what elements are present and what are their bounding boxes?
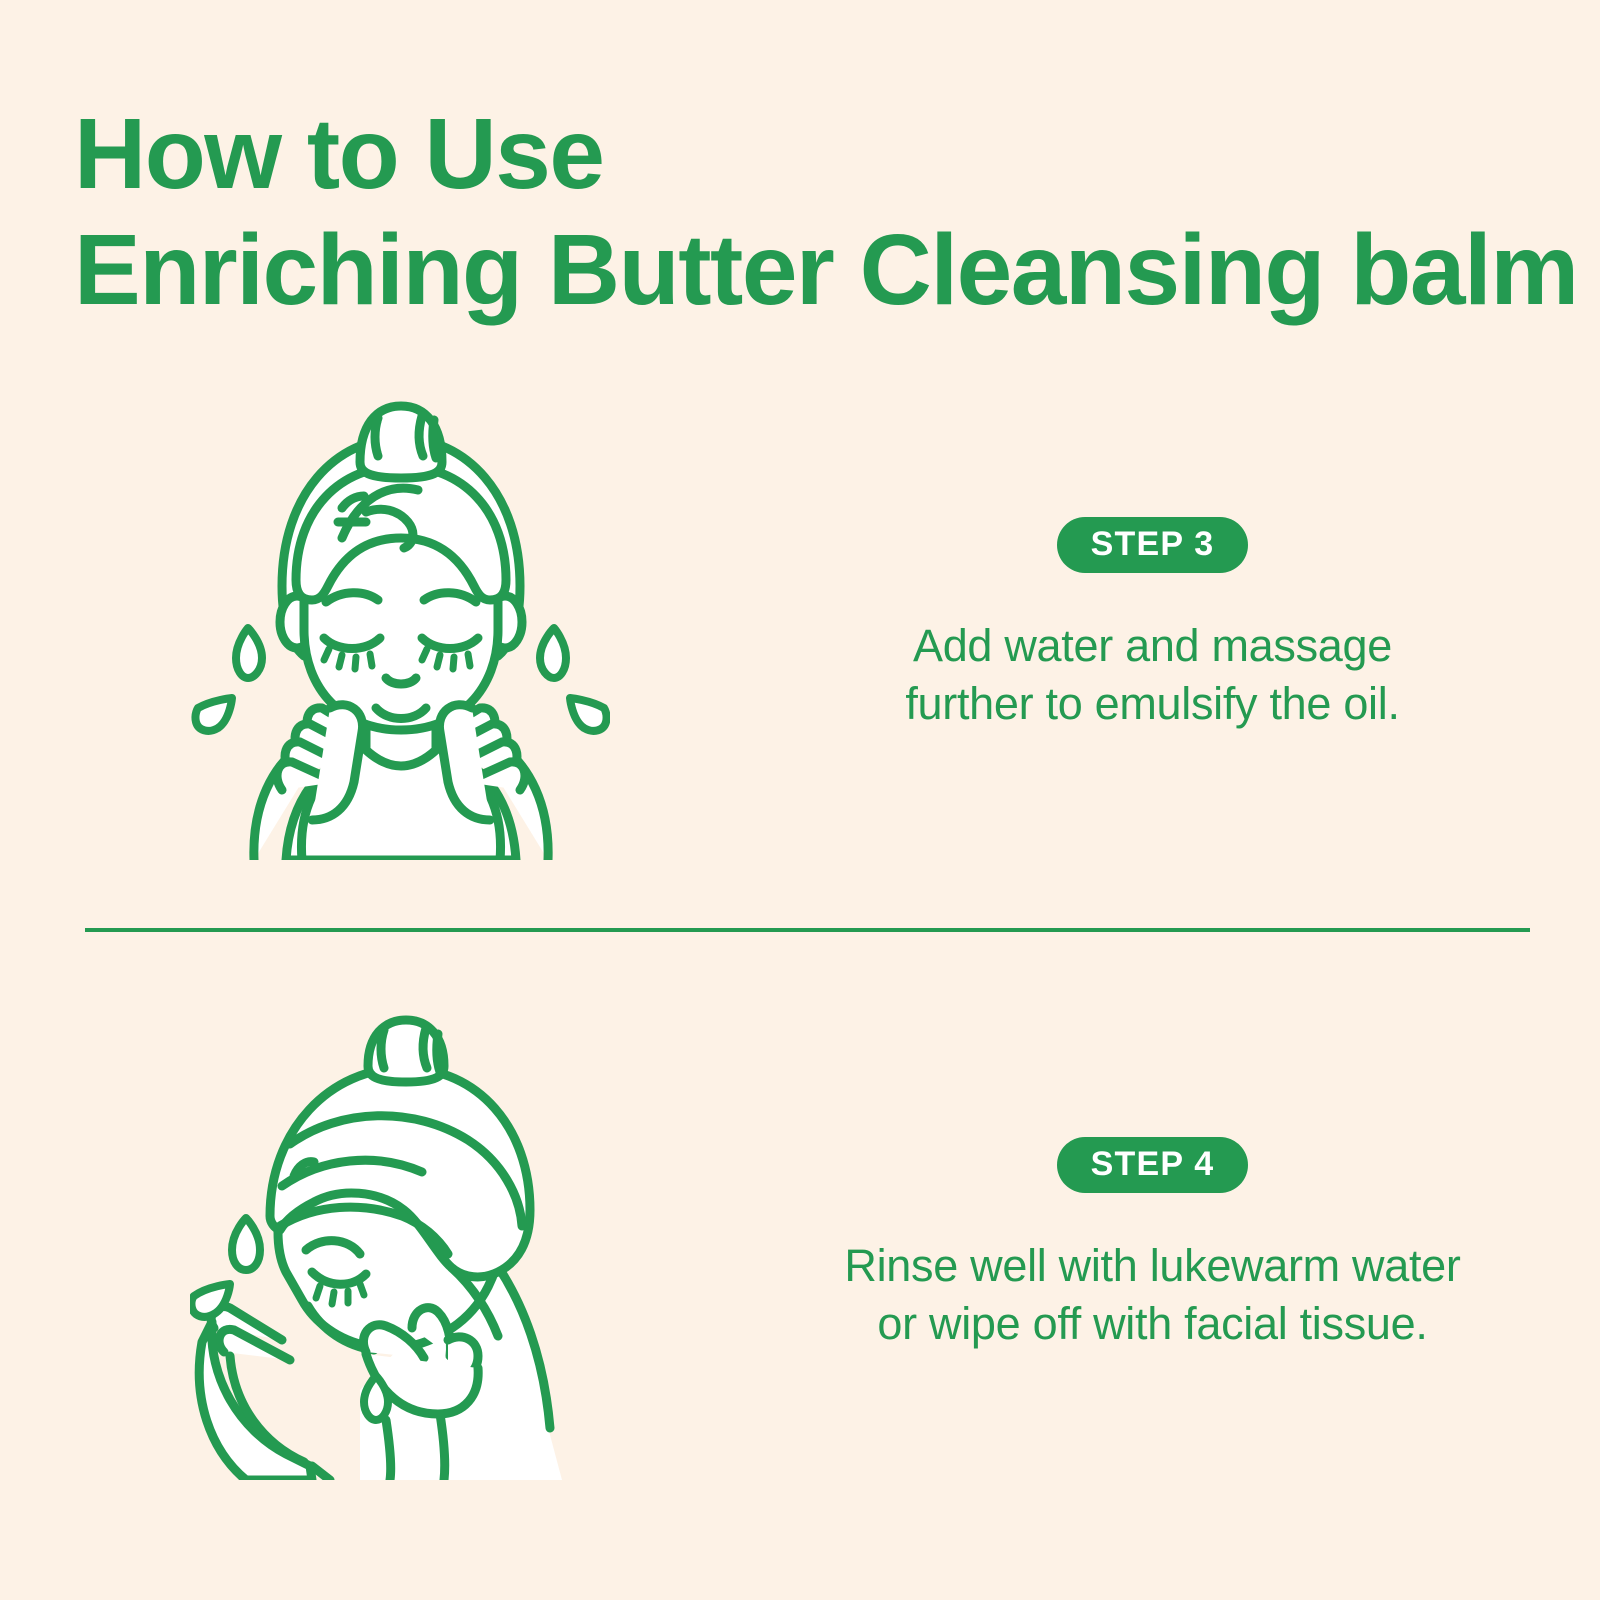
step-4-badge: STEP 4: [1057, 1137, 1249, 1193]
step-row-4: STEP 4 Rinse well with lukewarm water or…: [0, 980, 1600, 1510]
step-3-illustration-cell: [0, 390, 800, 860]
step-row-3: STEP 3 Add water and massage further to …: [0, 370, 1600, 880]
step-4-illustration-cell: [0, 1010, 800, 1480]
page-title: How to Use Enriching Butter Cleansing ba…: [74, 96, 1534, 328]
section-divider: [85, 928, 1530, 932]
infographic-page: How to Use Enriching Butter Cleansing ba…: [0, 0, 1600, 1600]
woman-rinsing-face-icon: [190, 1010, 610, 1480]
title-line-2: Enriching Butter Cleansing balm: [74, 212, 1534, 328]
title-line-1: How to Use: [74, 96, 1534, 212]
step-4-text-cell: STEP 4 Rinse well with lukewarm water or…: [800, 1137, 1600, 1353]
step-4-description: Rinse well with lukewarm water or wipe o…: [844, 1237, 1460, 1353]
step-3-badge: STEP 3: [1057, 517, 1249, 573]
woman-massaging-face-with-water-icon: [190, 390, 610, 860]
step-3-text-cell: STEP 3 Add water and massage further to …: [800, 517, 1600, 733]
step-3-description: Add water and massage further to emulsif…: [905, 617, 1399, 733]
